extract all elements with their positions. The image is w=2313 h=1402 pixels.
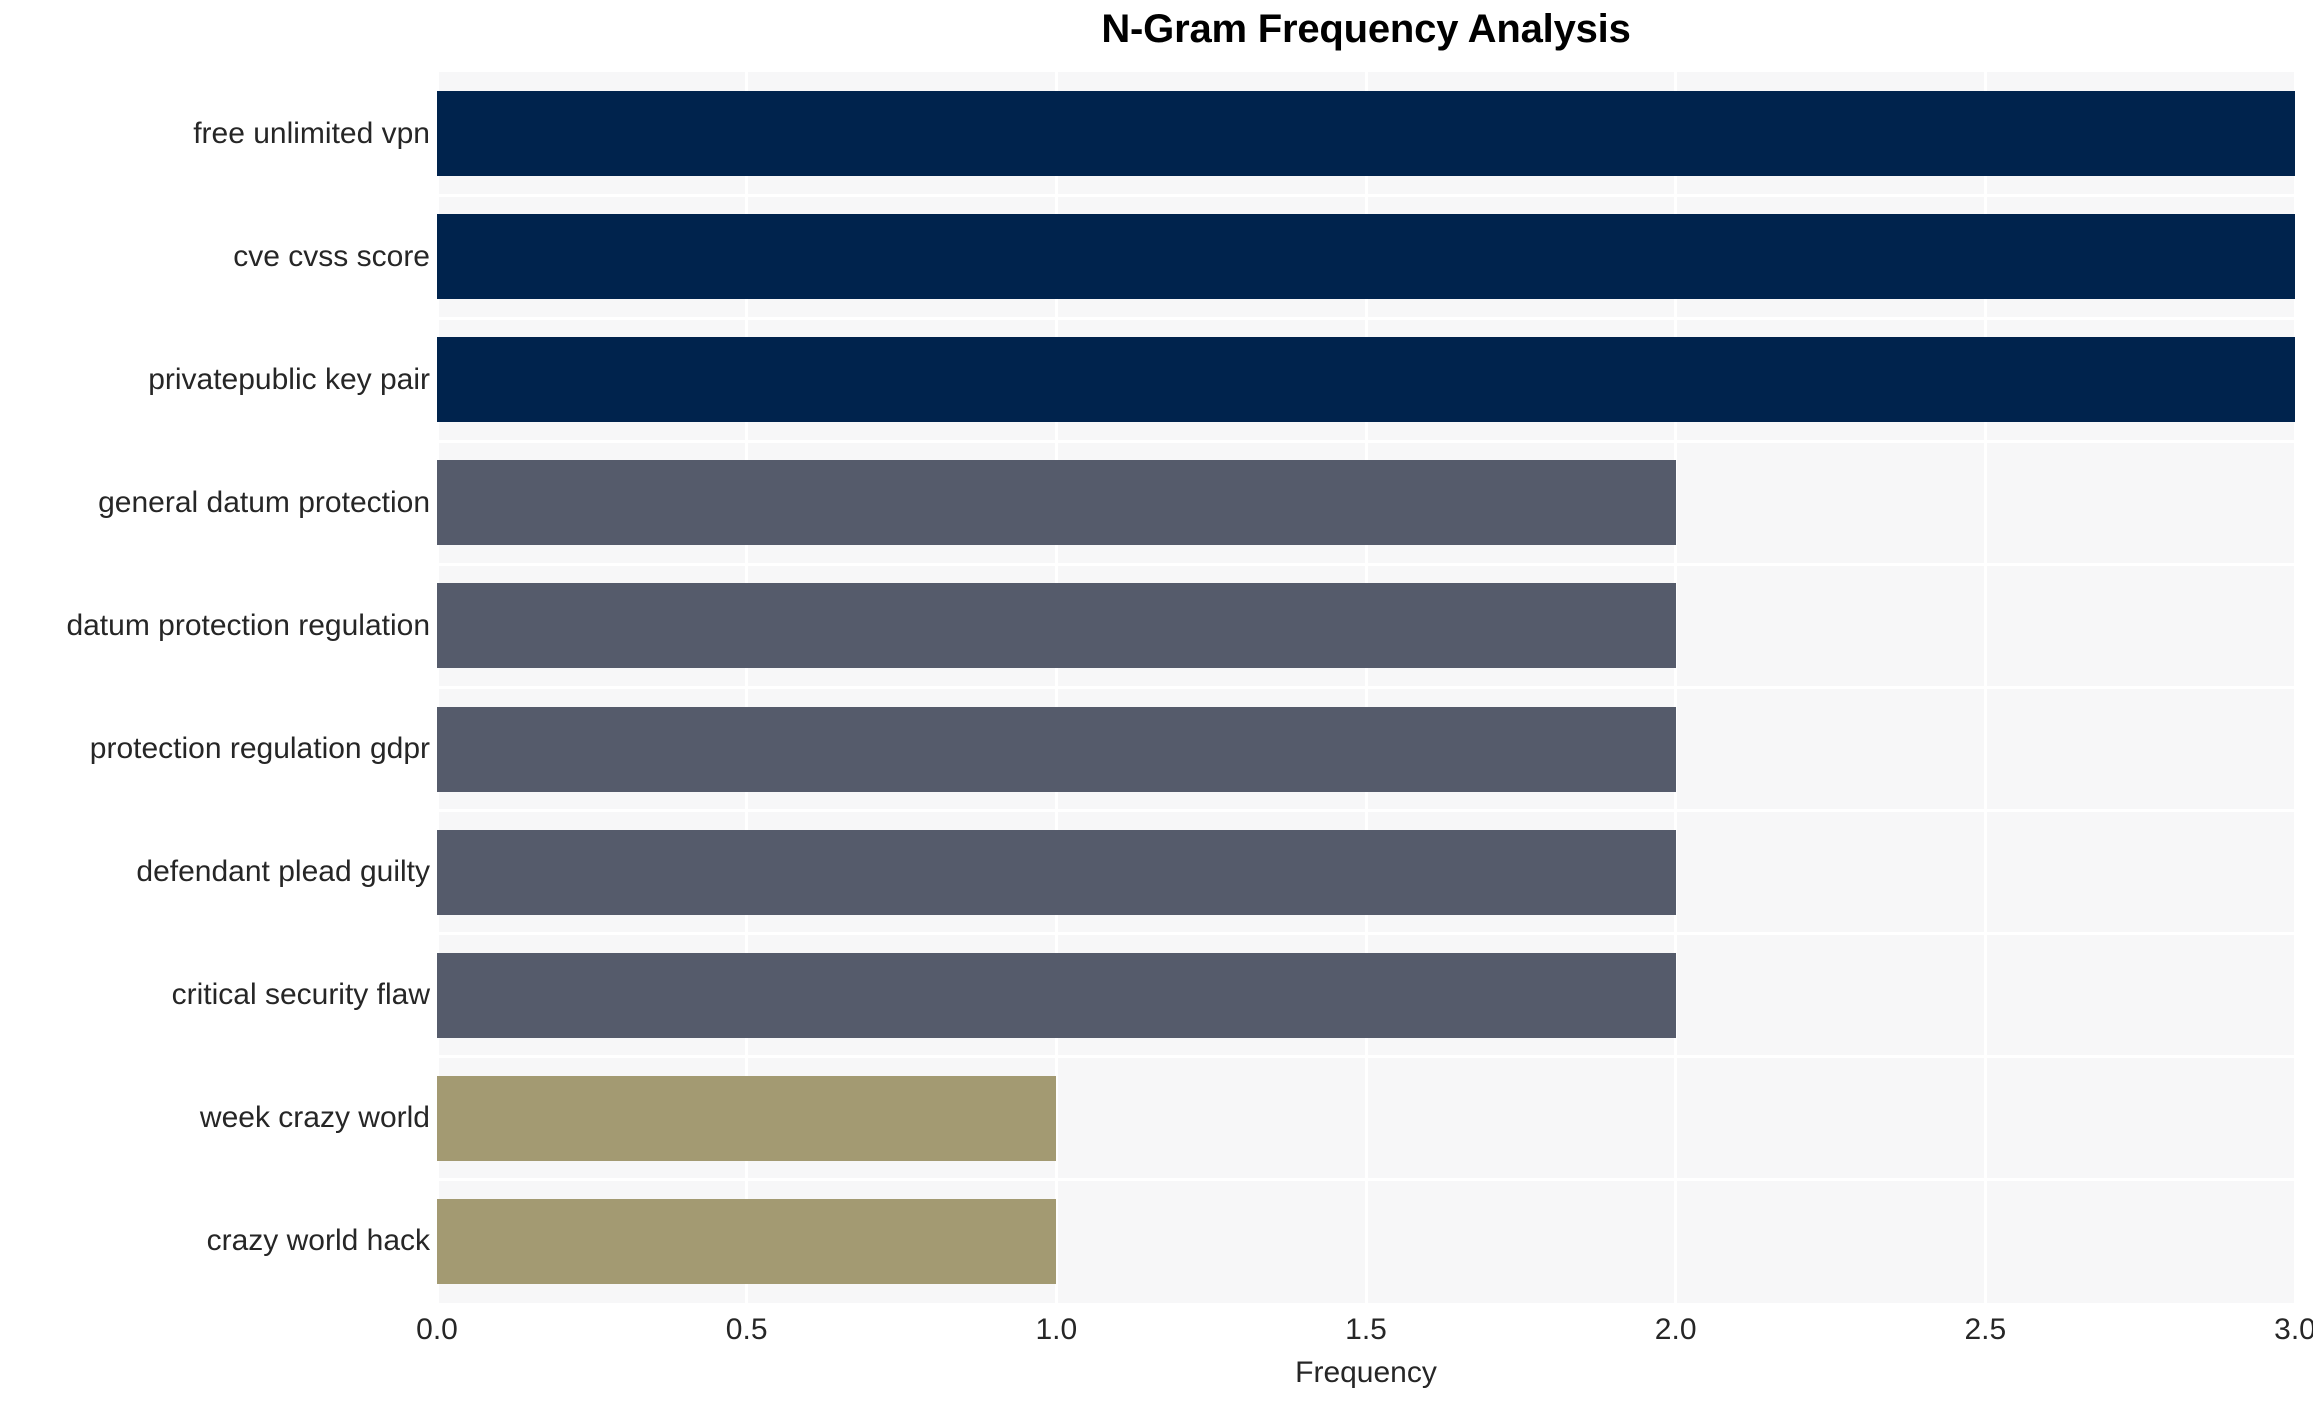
gridline-horizontal [437, 932, 2295, 935]
bar[interactable] [437, 1076, 1056, 1161]
x-tick-label: 2.5 [1905, 1313, 2065, 1347]
x-tick-label: 2.0 [1596, 1313, 1756, 1347]
plot-area [437, 72, 2295, 1303]
y-tick-label: critical security flaw [10, 978, 430, 1012]
x-tick-label: 3.0 [2215, 1313, 2313, 1347]
y-tick-label: datum protection regulation [10, 609, 430, 643]
bar[interactable] [437, 460, 1676, 545]
y-tick-label: defendant plead guilty [10, 855, 430, 889]
gridline-horizontal [437, 194, 2295, 197]
y-tick-label: general datum protection [10, 486, 430, 520]
y-tick-label: week crazy world [10, 1101, 430, 1135]
bar[interactable] [437, 214, 2295, 299]
gridline-horizontal [437, 440, 2295, 443]
bar[interactable] [437, 337, 2295, 422]
chart-figure: N-Gram Frequency Analysis Frequency free… [0, 0, 2313, 1402]
gridline-horizontal [437, 1055, 2295, 1058]
y-tick-label: crazy world hack [10, 1224, 430, 1258]
bar[interactable] [437, 953, 1676, 1038]
page-title: N-Gram Frequency Analysis [437, 6, 2295, 52]
gridline-horizontal [437, 1178, 2295, 1181]
gridline-horizontal [437, 809, 2295, 812]
gridline-horizontal [437, 563, 2295, 566]
bar[interactable] [437, 707, 1676, 792]
bar[interactable] [437, 1199, 1056, 1284]
x-tick-label: 1.0 [976, 1313, 1136, 1347]
x-tick-label: 0.5 [667, 1313, 827, 1347]
gridline-horizontal [437, 686, 2295, 689]
bar[interactable] [437, 91, 2295, 176]
x-tick-label: 0.0 [357, 1313, 517, 1347]
y-tick-label: free unlimited vpn [10, 117, 430, 151]
x-axis-title: Frequency [437, 1356, 2295, 1390]
y-tick-label: cve cvss score [10, 240, 430, 274]
bar[interactable] [437, 830, 1676, 915]
bar[interactable] [437, 583, 1676, 668]
y-tick-label: privatepublic key pair [10, 363, 430, 397]
x-tick-label: 1.5 [1286, 1313, 1446, 1347]
gridline-horizontal [437, 317, 2295, 320]
y-tick-label: protection regulation gdpr [10, 732, 430, 766]
